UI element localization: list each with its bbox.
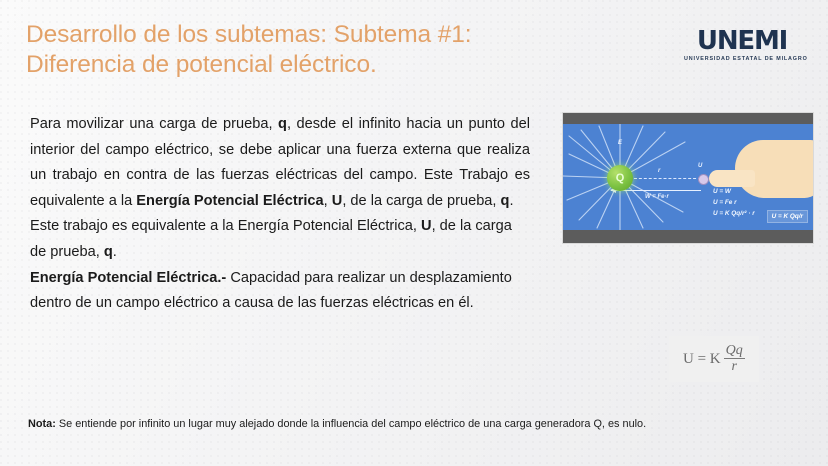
formula-fraction: Qq r [724,343,745,375]
slide-title: Desarrollo de los subtemas: Subtema #1: … [26,20,646,80]
body-text-column: Para movilizar una carga de prueba, q, d… [30,112,530,317]
source-charge-q: Q [607,165,633,191]
footnote-text: Se entiende por infinito un lugar muy al… [56,418,646,430]
label-work: W = Fe·r [645,194,669,200]
footnote-label: Nota: [28,418,56,430]
slide-header: Desarrollo de los subtemas: Subtema #1: … [0,0,828,100]
illustration-screen: Q U r E W = Fe·r U = W U = Fe r U = K Qq… [563,124,813,230]
paragraph-definition: Energía Potencial Eléctrica.- Capacidad … [30,266,530,317]
footnote: Nota: Se entiende por infinito un lugar … [28,416,800,432]
potential-energy-formula: U = K Qq r [669,336,759,382]
label-r: r [658,168,660,174]
formula-denominator: r [724,358,745,375]
hand-icon [709,140,813,202]
source-charge-label: Q [616,172,625,184]
electric-field-illustration: Q U r E W = Fe·r U = W U = Fe r U = K Qq… [563,113,813,243]
formula-line-3: U = K Qq/r² · r [713,208,755,219]
logo-wordmark: UNEMI [684,28,800,54]
logo-tagline: UNIVERSIDAD ESTATAL DE MILAGRO [684,56,800,62]
illustration-boxed-formula: U = K Qq/r [767,210,808,223]
slide-canvas: Desarrollo de los subtemas: Subtema #1: … [0,0,828,466]
formula-numerator: Qq [724,343,745,358]
paragraph-restatement: Este trabajo es equivalente a la Energía… [30,214,530,265]
unemi-logo: UNEMI UNIVERSIDAD ESTATAL DE MILAGRO [684,28,800,62]
label-e: E [618,140,622,146]
test-charge [698,174,709,185]
distance-dashed-line [629,178,701,179]
label-u: U [698,163,702,169]
paragraph-intro: Para movilizar una carga de prueba, q, d… [30,112,530,214]
formula-lhs: U = K [683,351,721,368]
